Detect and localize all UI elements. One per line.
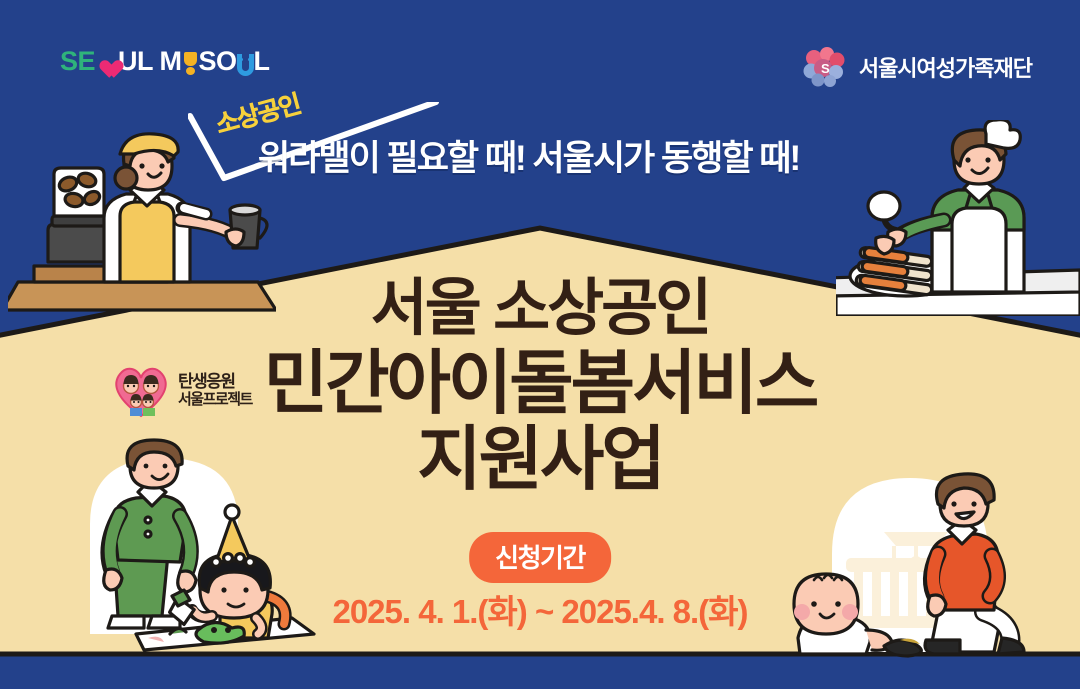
- application-period-badge: 신청기간: [469, 532, 611, 583]
- tagline-group: 소상공인 워라밸이 필요할 때! 서울시가 동행할 때!: [188, 98, 948, 168]
- seoul-my-soul-logo[interactable]: SE UL M SO L: [60, 48, 270, 75]
- seoul-logo-part4: L: [254, 48, 270, 75]
- poster-root: SE UL M SO L S 서울시여성가족재단 소상공인: [0, 0, 1080, 689]
- seoul-foundation-logo[interactable]: S 서울시여성가족재단: [803, 46, 1032, 88]
- birth-support-project-badge[interactable]: 탄생응원 서울프로젝트: [110, 362, 252, 418]
- birth-project-line-2: 서울프로젝트: [178, 391, 252, 408]
- baby-care-illustration: [788, 462, 1080, 666]
- seoul-logo-part3: SO: [199, 48, 237, 75]
- smile-u-icon: [237, 54, 254, 76]
- heart-family-icon: [110, 362, 172, 418]
- heart-icon: [96, 53, 117, 74]
- bubble-cluster-icon: S: [803, 46, 847, 88]
- exclamation-icon: [184, 52, 197, 75]
- foundation-name: 서울시여성가족재단: [859, 51, 1032, 83]
- seoul-logo-part2: UL M: [118, 48, 182, 75]
- svg-text:S: S: [821, 61, 830, 76]
- birth-project-line-1: 탄생응원: [178, 372, 252, 392]
- application-period-dates: 2025. 4. 1.(화) ~ 2025.4. 8.(화): [332, 585, 747, 633]
- seoul-logo-part1: SE: [60, 48, 95, 75]
- craft-care-illustration: [52, 438, 352, 652]
- birth-project-text: 탄생응원 서울프로젝트: [178, 372, 252, 409]
- tagline-text: 워라밸이 필요할 때! 서울시가 동행할 때!: [258, 130, 799, 181]
